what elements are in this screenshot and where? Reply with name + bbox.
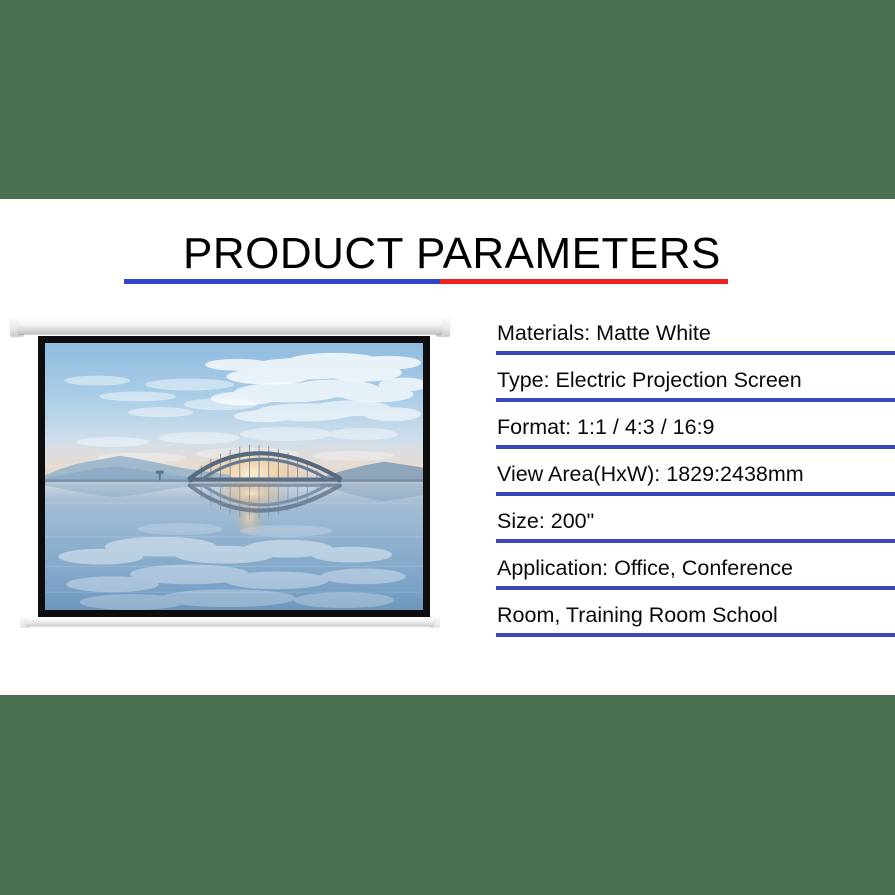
projected-photo-bridge-sunset: [45, 343, 423, 610]
spec-row-application-continued: Room, Training Room School: [496, 590, 895, 637]
screen-frame-border: [38, 336, 430, 617]
spec-divider: [496, 633, 895, 637]
product-spec-list: Materials: Matte White Type: Electric Pr…: [496, 308, 895, 637]
spec-row-format: Format: 1:1 / 4:3 / 16:9: [496, 402, 895, 449]
screen-weight-bar: [26, 617, 434, 626]
spec-text-application: Application: Office, Conference: [497, 558, 793, 580]
spec-row-view-area: View Area(HxW): 1829:2438mm: [496, 449, 895, 496]
spec-row-application: Application: Office, Conference: [496, 543, 895, 590]
product-image-projection-screen: [10, 312, 450, 642]
spec-text-size: Size: 200": [497, 511, 594, 533]
title-underline-red-segment: [440, 279, 728, 284]
spec-row-materials: Materials: Matte White: [496, 308, 895, 355]
screen-surface: [45, 343, 423, 610]
spec-text-application-continued: Room, Training Room School: [497, 605, 778, 627]
spec-row-type: Type: Electric Projection Screen: [496, 355, 895, 402]
spec-row-size: Size: 200": [496, 496, 895, 543]
page-title: PRODUCT PARAMETERS: [183, 232, 721, 276]
spec-text-format: Format: 1:1 / 4:3 / 16:9: [497, 417, 715, 439]
spec-text-materials: Materials: Matte White: [497, 323, 711, 345]
spec-text-type: Type: Electric Projection Screen: [497, 370, 802, 392]
title-underline: [124, 279, 728, 284]
spec-text-view-area: View Area(HxW): 1829:2438mm: [497, 464, 804, 486]
screen-housing-bar: [18, 318, 442, 334]
title-underline-blue-segment: [124, 279, 440, 284]
